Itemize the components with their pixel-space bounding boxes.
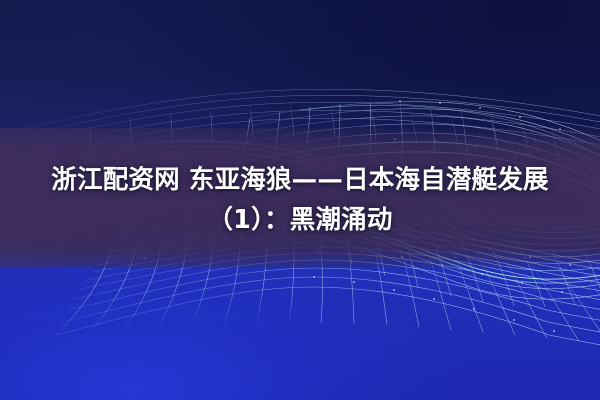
headline-container: 浙江配资网 东亚海狼——日本海自潜艇发展（1）：黑潮涌动	[0, 0, 600, 400]
article-banner: 浙江配资网 东亚海狼——日本海自潜艇发展（1）：黑潮涌动	[0, 0, 600, 400]
page-title: 浙江配资网 东亚海狼——日本海自潜艇发展（1）：黑潮涌动	[24, 160, 576, 240]
